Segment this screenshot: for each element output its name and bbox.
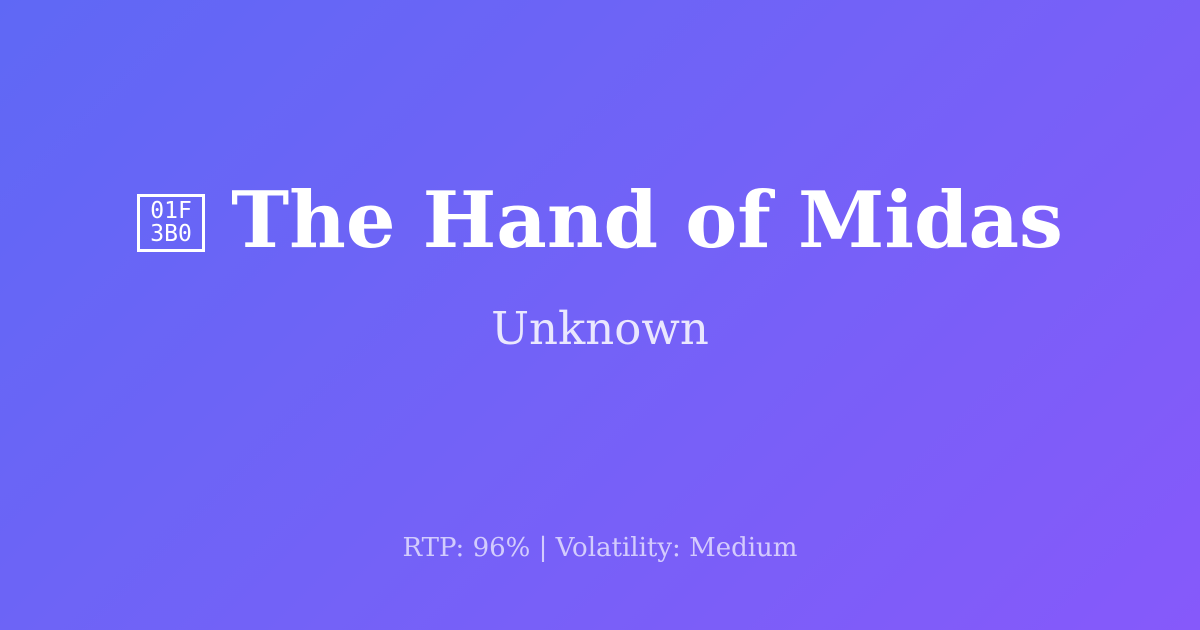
og-preview-card: 01F 3B0 The Hand of Midas Unknown RTP: 9…	[0, 0, 1200, 630]
codepoint-top: 01F	[150, 200, 192, 223]
slot-machine-icon: 01F 3B0	[137, 194, 205, 252]
title-row: 01F 3B0 The Hand of Midas	[137, 180, 1063, 262]
game-title: The Hand of Midas	[231, 180, 1063, 262]
hero-content: 01F 3B0 The Hand of Midas Unknown	[0, 0, 1200, 630]
codepoint-bottom: 3B0	[150, 223, 192, 246]
game-provider: Unknown	[491, 304, 709, 354]
